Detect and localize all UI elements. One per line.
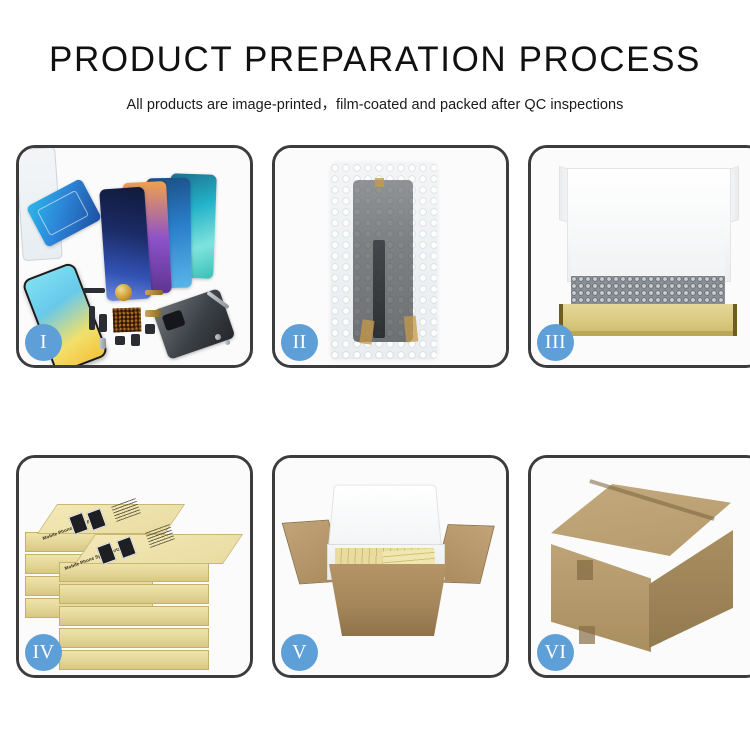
part-icon [145, 324, 155, 334]
step-panel-4: Mobile Phone Spare Parts Mobile Phone Sp… [16, 455, 253, 678]
chip-array-icon [113, 308, 142, 333]
step-badge-1: I [25, 324, 62, 361]
step-panel-6: VI [528, 455, 750, 678]
foam-sheet-icon [571, 200, 725, 276]
step-panel-5: V [272, 455, 509, 678]
retail-box-icon [59, 606, 209, 626]
bubble-wrap-layer-icon [571, 276, 725, 306]
screw-icon [225, 340, 230, 345]
page-subtitle: All products are image-printed，film-coat… [0, 93, 750, 114]
step-badge-3: III [537, 324, 574, 361]
carton-body-icon [329, 564, 447, 636]
step-badge-6: VI [537, 634, 574, 671]
step-badge-2: II [281, 324, 318, 361]
part-icon [131, 334, 140, 346]
retail-box-icon [59, 584, 209, 604]
carton-left-face-icon [551, 544, 651, 652]
part-icon [145, 290, 163, 295]
carton-tape-icon [579, 626, 595, 644]
part-icon [145, 310, 161, 317]
tape-icon [404, 315, 419, 342]
step-panel-3: III [528, 145, 750, 368]
carton-tape-icon [577, 560, 593, 580]
step-panel-2: II [272, 145, 509, 368]
foam-lid-icon [328, 485, 443, 552]
step-panel-1: I [16, 145, 253, 368]
process-step-grid: I II III [16, 145, 734, 678]
step-badge-5: V [281, 634, 318, 671]
part-icon [99, 314, 107, 332]
page-title: PRODUCT PREPARATION PROCESS [0, 40, 750, 80]
phone-back-housing-icon [152, 288, 235, 360]
part-icon [99, 338, 106, 349]
part-icon [83, 288, 105, 293]
kraft-box-front-icon [559, 304, 737, 336]
screw-icon [215, 334, 221, 340]
part-icon [115, 336, 125, 345]
step-badge-4: IV [25, 634, 62, 671]
tape-icon [375, 178, 384, 187]
retail-box-icon [59, 650, 209, 670]
speaker-coil-icon [115, 284, 132, 301]
page-header: PRODUCT PREPARATION PROCESS All products… [0, 0, 750, 114]
part-icon [89, 306, 95, 330]
bubble-wrap-bag-icon [331, 164, 437, 359]
retail-box-icon [59, 628, 209, 648]
flex-cable-icon [373, 240, 385, 338]
